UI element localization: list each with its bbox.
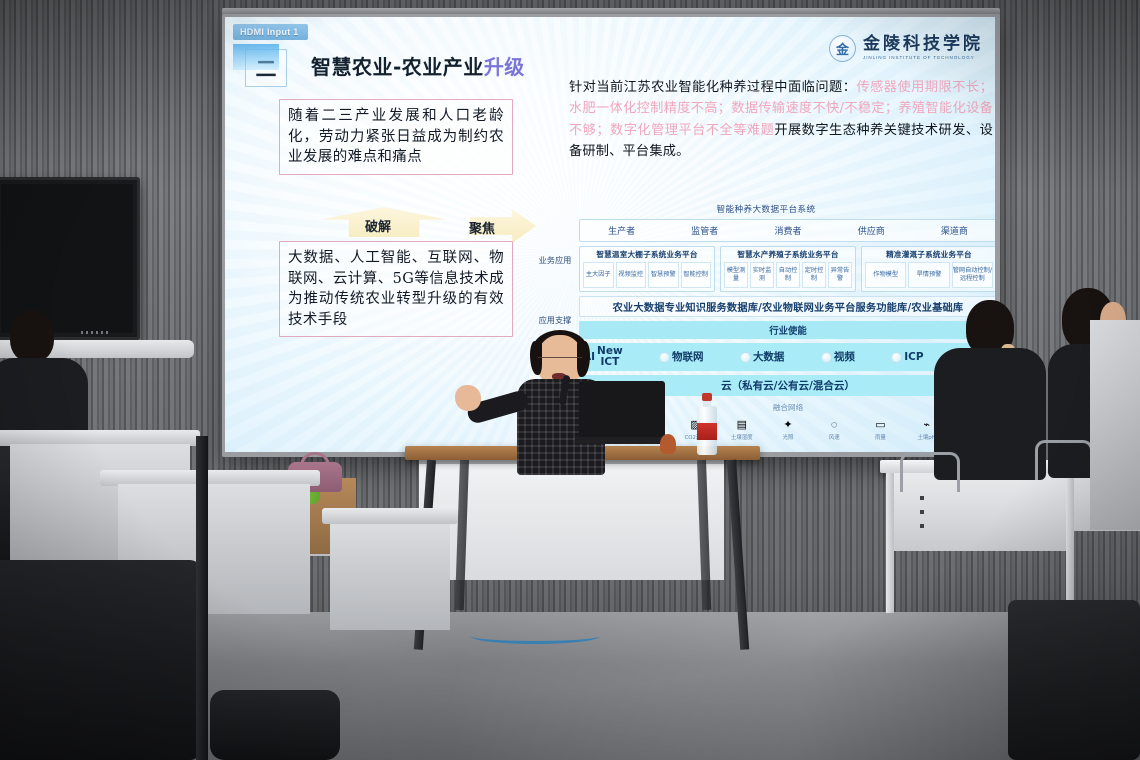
layer-label-business: 业务应用 (535, 255, 575, 265)
role-channel: 渠道商 (913, 222, 995, 239)
university-logo-text: 金陵科技学院 JINLING INSTITUTE OF TECHNOLOGY (863, 36, 983, 61)
foreground-desk-post (196, 436, 208, 760)
midground-desk-top (322, 508, 458, 524)
sensor-light: ✦ 光照 (766, 420, 810, 441)
slide-callout-text-2: 大数据、人工智能、互联网、物联网、云计算、5G等信息技术成为推动传统农业转型升级… (288, 248, 504, 330)
subsystem-platform-row: 智慧温室大棚子系统业务平台 主大因子 视频监控 智慧预警 智能控制 (579, 246, 995, 292)
paragraph-lead: 针对当前江苏农业智能化种养过程中面临问题： (569, 80, 856, 95)
laptop-keyboard[interactable] (575, 437, 669, 444)
layer-label-support: 应用支撑 (535, 315, 575, 325)
foreground-chair-right (1008, 600, 1140, 760)
platform-aquaculture-cells: 模型测量 实时监测 自动控制 定时控制 异常告警 (724, 262, 852, 288)
student-head (10, 310, 54, 362)
bottle-label (697, 423, 717, 440)
tech-bullet-icon (891, 352, 902, 363)
laptop-screen (579, 381, 665, 439)
glasses-icon (538, 357, 582, 366)
cell-alarm: 异常告警 (828, 262, 852, 288)
arrow-right-label: 聚焦 (469, 218, 495, 237)
water-bottle[interactable] (697, 393, 717, 455)
laptop-computer[interactable] (575, 381, 669, 448)
foreground-desk-panel (1090, 320, 1140, 530)
slide-callout-box-2: 大数据、人工智能、互联网、物联网、云计算、5G等信息技术成为推动传统农业转型升级… (279, 241, 513, 337)
platform-greenhouse: 智慧温室大棚子系统业务平台 主大因子 视频监控 智慧预警 智能控制 (579, 246, 715, 292)
ph-icon: ⌁ (923, 420, 930, 431)
floor-cable (470, 628, 600, 644)
cell-model: 模型测量 (724, 262, 748, 288)
cell-crop-model: 作物模型 (865, 262, 906, 288)
stakeholder-roles-row: 生产者 监管者 消费者 供应商 渠道商 (579, 219, 995, 242)
sensor-rain: ▭ 雨量 (858, 420, 902, 441)
lecture-desk (405, 446, 760, 646)
platform-irrigation: 精准灌溉子系统业务平台 作物模型 旱情预警 管网自动控制/远程控制 (861, 246, 995, 292)
cell-pipe-control: 管网自动控制/远程控制 (952, 262, 993, 288)
slide-title-highlight: 升级 (484, 55, 525, 79)
university-logo: 金 金陵科技学院 JINLING INSTITUTE OF TECHNOLOGY (829, 35, 983, 62)
hdmi-input-badge: HDMI Input 1 (233, 24, 308, 40)
soil-moisture-icon: ▤ (737, 420, 747, 431)
tech-bigdata: 大数据 (753, 352, 785, 363)
tech-bullet-icon (740, 352, 751, 363)
slide-problem-paragraph: 针对当前江苏农业智能化种养过程中面临问题：传感器使用期限不长；水肥一体化控制精度… (569, 77, 993, 163)
platform-greenhouse-title: 智慧温室大棚子系统业务平台 (583, 249, 711, 260)
university-crest-icon: 金 (829, 35, 856, 62)
platform-aquaculture-title: 智慧水产养殖子系统业务平台 (724, 249, 852, 260)
slide-title: 智慧农业-农业产业升级 (311, 51, 525, 80)
platform-irrigation-title: 精准灌溉子系统业务平台 (865, 249, 993, 260)
foreground-chair-bottom-left-2 (210, 690, 340, 760)
light-icon: ✦ (783, 420, 792, 431)
chair-frame-right (900, 452, 960, 492)
cell-monitor: 实时监测 (750, 262, 774, 288)
cell-drought-alert: 旱情预警 (908, 262, 949, 288)
arrow-right-group: 聚焦 (470, 209, 536, 243)
chair-frame-right-2 (1035, 440, 1093, 480)
lecturer-hand (455, 385, 481, 411)
classroom-scene: HDMI Input 1 二 智慧农业-农业产业升级 金 金陵科技学院 JINL… (0, 0, 1140, 760)
sensor-wind: ◌ 风速 (812, 420, 856, 441)
platform-irrigation-cells: 作物模型 旱情预警 管网自动控制/远程控制 (865, 262, 993, 288)
platform-aquaculture: 智慧水产养殖子系统业务平台 模型测量 实时监测 自动控制 定时控制 异常告警 (720, 246, 856, 292)
cell-factor: 主大因子 (583, 262, 614, 288)
sensor-light-label: 光照 (783, 433, 794, 441)
architecture-title: 智能种养大数据平台系统 (535, 203, 995, 215)
arrow-up-group: 破解 (321, 207, 447, 237)
slide-callout-box-1: 随着二三产业发展和人口老龄化，劳动力紧张日益成为制约农业发展的难点和痛点 (279, 99, 513, 175)
sensor-soil-moisture: ▤ 土壤湿度 (720, 420, 764, 441)
hdmi-badge-tail (233, 44, 279, 70)
rain-icon: ▭ (875, 420, 885, 431)
student-desk-leg (886, 473, 894, 613)
tech-bullet-icon (821, 352, 832, 363)
student-desk-vent-icon (920, 496, 924, 536)
university-name-en: JINLING INSTITUTE OF TECHNOLOGY (863, 56, 983, 61)
tech-video: 视频 (834, 352, 855, 363)
role-supplier: 供应商 (830, 222, 913, 239)
cell-control: 智能控制 (681, 262, 712, 288)
tech-icp: ICP (904, 352, 923, 363)
platform-greenhouse-cells: 主大因子 视频监控 智慧预警 智能控制 (583, 262, 711, 288)
slide-title-main: 智慧农业-农业产业 (311, 55, 484, 79)
bottle-cap (702, 393, 712, 401)
sensor-rain-label: 雨量 (875, 433, 886, 441)
desk-leg (727, 460, 749, 650)
cell-timer: 定时控制 (802, 262, 826, 288)
role-consumer: 消费者 (746, 222, 829, 239)
cell-video: 视频监控 (616, 262, 647, 288)
university-name-cn: 金陵科技学院 (863, 36, 983, 53)
foreground-chair-bottom-left (0, 560, 200, 760)
bottle-neck (703, 400, 711, 407)
slide-callout-text-1: 随着二三产业发展和人口老龄化，劳动力紧张日益成为制约农业发展的难点和痛点 (288, 106, 504, 168)
wind-icon: ◌ (831, 420, 838, 431)
cell-warning: 智慧预警 (648, 262, 679, 288)
tech-bullet-icon (659, 352, 670, 363)
cell-auto: 自动控制 (776, 262, 800, 288)
handheld-microphone[interactable] (660, 434, 676, 454)
sensor-wind-label: 风速 (829, 433, 840, 441)
sensor-soil-moisture-label: 土壤湿度 (731, 433, 753, 441)
tech-iot: 物联网 (672, 352, 704, 363)
arrow-up-label: 破解 (365, 216, 391, 235)
midground-desk-panel (330, 520, 450, 630)
role-producer: 生产者 (580, 222, 663, 239)
role-regulator: 监管者 (663, 222, 746, 239)
